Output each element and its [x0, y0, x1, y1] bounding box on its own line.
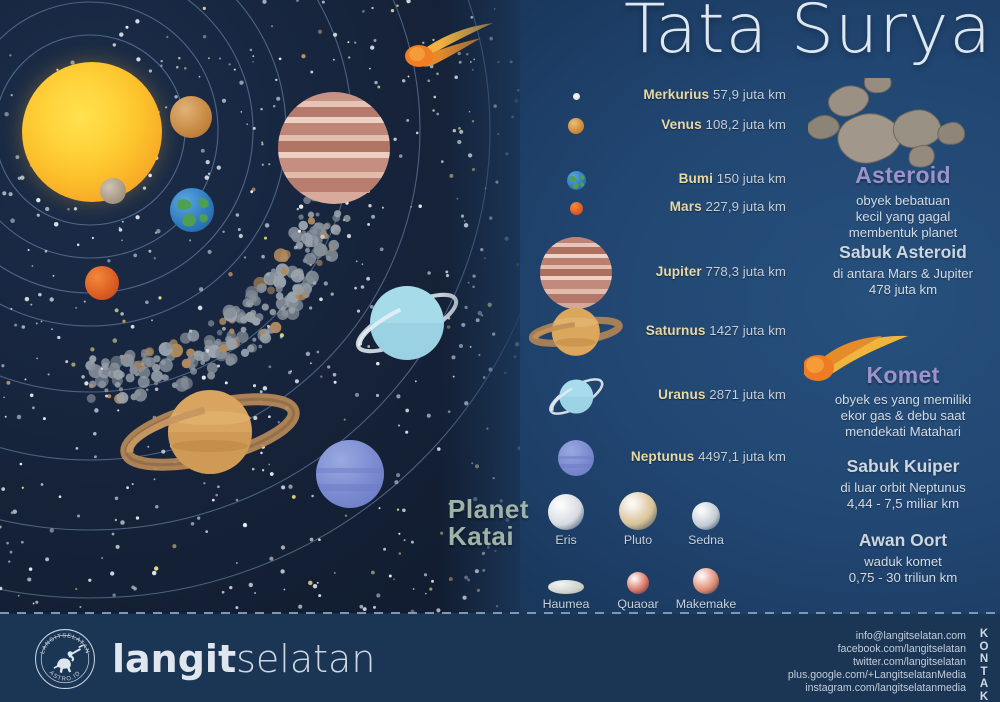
dwarf-planet-pluto: Pluto	[602, 490, 674, 547]
dwarf-label-haumea: Haumea	[530, 597, 602, 611]
asteroid-belt-line-2: 478 juta km	[806, 282, 1000, 298]
planet-name-uranus: Uranus	[658, 387, 705, 402]
scale-planet-merkurius	[573, 93, 580, 100]
planet-name-neptunus: Neptunus	[631, 449, 694, 464]
svg-text:LANGITSELATAN: LANGITSELATAN	[40, 633, 90, 655]
kuiper-belt-heading: Sabuk Kuiper	[806, 456, 1000, 477]
langitselatan-seal-icon: LANGITSELATAN ASTRO.ID	[34, 628, 96, 690]
dwarf-planet-eris: Eris	[530, 490, 602, 547]
asteroid-cluster-graphic	[808, 78, 998, 170]
oort-cloud-line-2: 0,75 - 30 triliun km	[806, 570, 1000, 586]
kontak-letter: A	[976, 678, 992, 691]
planet-row-jupiter: Jupiter 778,3 juta km	[656, 264, 786, 279]
brand-bold: langit	[112, 637, 236, 681]
planet-distance-saturnus: 1427 juta km	[709, 323, 786, 338]
scale-planet-saturn	[529, 303, 623, 361]
asteroid-heading: Asteroid	[806, 162, 1000, 189]
sun-graphic	[22, 62, 162, 202]
earth-continents	[170, 188, 214, 232]
planet-mercury-graphic	[100, 178, 126, 204]
scale-planet-uranus	[544, 371, 609, 422]
asteroid-belt-line-1: di antara Mars & Jupiter	[806, 266, 1000, 282]
dwarf-label-eris: Eris	[530, 533, 602, 547]
planet-row-saturnus: Saturnus 1427 juta km	[646, 323, 786, 338]
comet-desc-line-1: obyek es yang memiliki	[806, 392, 1000, 408]
footer: LANGITSELATAN ASTRO.ID langitselatan inf…	[0, 614, 1000, 702]
comet-desc-line-3: mendekati Matahari	[806, 424, 1000, 440]
scale-planet-mars	[570, 202, 583, 215]
dwarf-label-makemake: Makemake	[670, 597, 742, 611]
planet-name-jupiter: Jupiter	[656, 264, 702, 279]
contact-link-2[interactable]: facebook.com/langitselatan	[788, 643, 966, 656]
svg-text:ASTRO.ID: ASTRO.ID	[48, 670, 83, 683]
dwarf-body-haumea	[548, 580, 584, 594]
kontak-letter: T	[976, 666, 992, 679]
dwarf-title-line1: Planet	[448, 494, 529, 524]
seal-centaur-figure	[54, 645, 83, 673]
brand-logo: LANGITSELATAN ASTRO.ID langitselatan	[30, 628, 370, 690]
scale-earth-continents	[567, 171, 586, 190]
scale-planet-venus	[568, 118, 584, 134]
dwarf-title-line2: Katai	[448, 521, 514, 551]
dwarf-label-pluto: Pluto	[602, 533, 674, 547]
planet-distance-merkurius: 57,9 juta km	[713, 87, 786, 102]
kontak-label: KONTAK	[976, 628, 992, 702]
comet-heading: Komet	[806, 362, 1000, 389]
kuiper-belt-line-2: 4,44 - 7,5 miliar km	[806, 496, 1000, 512]
planet-distance-jupiter: 778,3 juta km	[706, 264, 786, 279]
comet-desc-line-2: ekor gas & debu saat	[806, 408, 1000, 424]
planet-row-merkurius: Merkurius 57,9 juta km	[643, 87, 786, 102]
planet-uranus-graphic	[342, 268, 472, 378]
planet-venus-graphic	[170, 96, 212, 138]
planet-distance-bumi: 150 juta km	[717, 171, 786, 186]
oort-cloud-line-1: waduk komet	[806, 554, 1000, 570]
contact-link-4[interactable]: plus.google.com/+LangitselatanMedia	[788, 669, 966, 682]
planet-jupiter-graphic	[278, 92, 390, 204]
dwarf-label-quaoar: Quaoar	[602, 597, 674, 611]
seal-text-bottom: ASTRO.ID	[48, 670, 83, 683]
asteroid-desc-line-3: membentuk planet	[806, 225, 1000, 241]
asteroid-desc-line-1: obyek bebatuan	[806, 193, 1000, 209]
contact-link-5[interactable]: instagram.com/langitselatanmedia	[788, 682, 966, 695]
asteroid-desc-line-2: kecil yang gagal	[806, 209, 1000, 225]
dwarf-body-eris	[548, 494, 584, 530]
kuiper-belt-line-1: di luar orbit Neptunus	[806, 480, 1000, 496]
planet-saturn-graphic	[110, 370, 310, 490]
infographic-poster: Tata Surya Merkurius 57,9 juta km Venus …	[0, 0, 1000, 702]
planet-name-mars: Mars	[670, 199, 702, 214]
contact-list: info@langitselatan.comfacebook.com/langi…	[788, 630, 966, 695]
neptune-bands	[316, 440, 384, 508]
planet-name-bumi: Bumi	[679, 171, 713, 186]
kontak-letter: K	[976, 628, 992, 641]
oort-cloud-heading: Awan Oort	[806, 530, 1000, 551]
dwarf-label-sedna: Sedna	[670, 533, 742, 547]
contact-link-3[interactable]: twitter.com/langitselatan	[788, 656, 966, 669]
dwarf-planet-sedna: Sedna	[670, 490, 742, 547]
seal-text-top: LANGITSELATAN	[40, 633, 90, 655]
planet-row-neptunus: Neptunus 4497,1 juta km	[631, 449, 786, 464]
planet-row-mars: Mars 227,9 juta km	[670, 199, 786, 214]
dwarf-planets-section: Planet Katai Eris Pluto Sedna Haumea Qua…	[448, 488, 788, 610]
scale-planet-jupiter	[540, 237, 612, 309]
planet-distance-venus: 108,2 juta km	[706, 117, 786, 132]
dwarf-planet-quaoar: Quaoar	[602, 554, 674, 611]
right-info-column: Asteroid obyek bebatuan kecil yang gagal…	[806, 78, 1000, 608]
planet-name-merkurius: Merkurius	[643, 87, 709, 102]
planet-distance-neptunus: 4497,1 juta km	[698, 449, 786, 464]
planet-distance-mars: 227,9 juta km	[706, 199, 786, 214]
planet-distance-uranus: 2871 juta km	[709, 387, 786, 402]
dwarf-body-pluto	[619, 492, 657, 530]
page-title: Tata Surya	[560, 0, 992, 64]
comet-graphic	[405, 14, 515, 74]
brand-wordmark: langitselatan	[112, 632, 375, 686]
planet-row-venus: Venus 108,2 juta km	[661, 117, 786, 132]
contact-link-1[interactable]: info@langitselatan.com	[788, 630, 966, 643]
planet-row-uranus: Uranus 2871 juta km	[658, 387, 786, 402]
planet-row-bumi: Bumi 150 juta km	[679, 171, 786, 186]
kontak-letter: K	[976, 691, 992, 702]
brand-light: selatan	[236, 637, 375, 681]
scale-planet-neptune	[558, 440, 594, 476]
dwarf-body-makemake	[693, 568, 719, 594]
planet-name-venus: Venus	[661, 117, 702, 132]
dwarf-body-quaoar	[627, 572, 649, 594]
dwarf-body-sedna	[692, 502, 720, 530]
asteroid-belt-heading: Sabuk Asteroid	[806, 242, 1000, 263]
solar-system-diagram	[0, 0, 520, 613]
dwarf-planet-haumea: Haumea	[530, 554, 602, 611]
kontak-letter: N	[976, 653, 992, 666]
planet-name-saturnus: Saturnus	[646, 323, 706, 338]
planet-mars-graphic	[85, 266, 119, 300]
dwarf-planet-makemake: Makemake	[670, 554, 742, 611]
kontak-letter: O	[976, 641, 992, 654]
